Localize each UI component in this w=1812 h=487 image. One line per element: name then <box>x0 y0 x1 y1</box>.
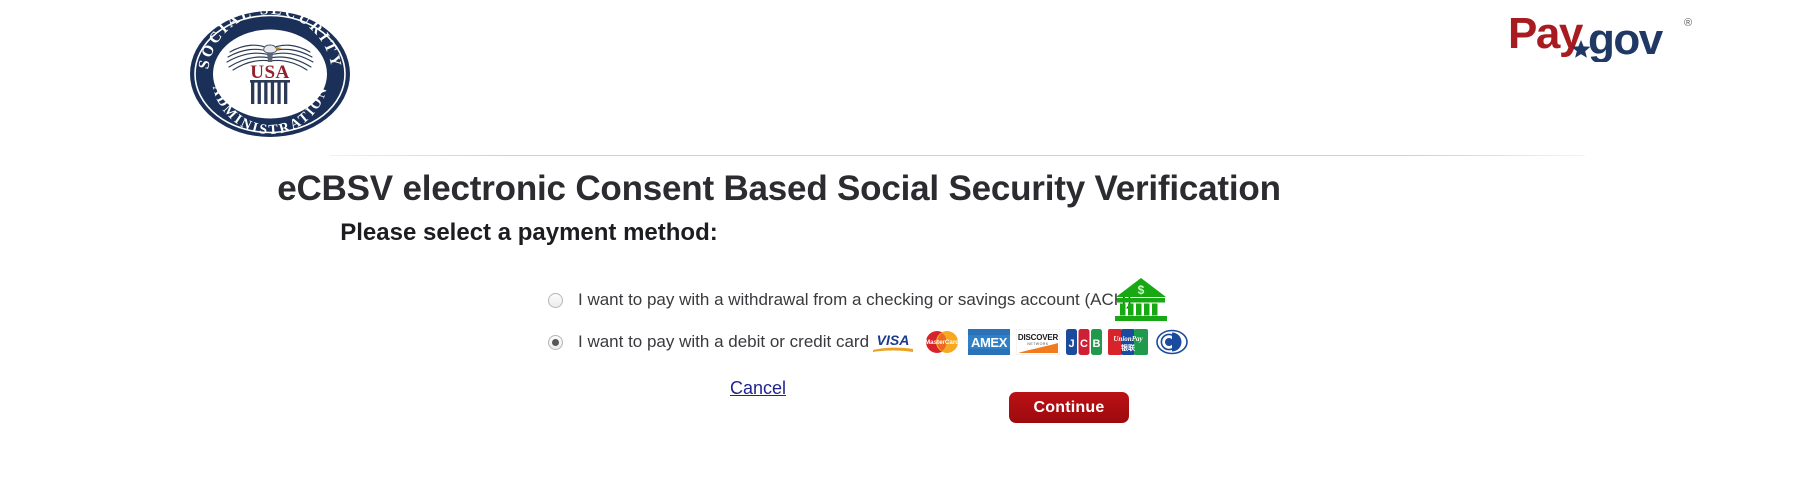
payment-option-card-label: I want to pay with a debit or credit car… <box>578 332 869 352</box>
svg-text:Pay: Pay <box>1508 9 1584 58</box>
svg-text:AMEX: AMEX <box>971 335 1008 350</box>
page-header: SOCIAL SECURITY ADMINISTRATION <box>0 0 1812 150</box>
svg-text:VISA: VISA <box>877 332 910 348</box>
radio-ach[interactable] <box>548 293 563 308</box>
payment-option-card[interactable]: I want to pay with a debit or credit car… <box>548 326 1308 368</box>
amex-icon: AMEX <box>968 329 1010 355</box>
payment-method-prompt: Please select a payment method: <box>0 219 1812 247</box>
discover-icon: DISCOVER NETWORK <box>1016 329 1060 355</box>
jcb-icon: J C B <box>1066 329 1102 355</box>
svg-text:MasterCard: MasterCard <box>925 339 959 346</box>
social-security-administration-seal: SOCIAL SECURITY ADMINISTRATION <box>186 6 354 138</box>
svg-text:C: C <box>1080 338 1088 350</box>
payment-method-options: I want to pay with a withdrawal from a c… <box>548 284 1308 368</box>
svg-text:USA: USA <box>250 62 290 83</box>
payment-option-ach-label: I want to pay with a withdrawal from a c… <box>578 290 1132 310</box>
svg-text:B: B <box>1093 338 1101 350</box>
visa-icon: VISA <box>870 329 916 355</box>
bank-dollar-icon: $ <box>1114 276 1168 324</box>
radio-card[interactable] <box>548 335 563 350</box>
unionpay-icon: UnionPay 银联 <box>1108 329 1148 355</box>
form-actions: Cancel Continue <box>0 370 1812 430</box>
svg-text:$: $ <box>1138 283 1145 297</box>
continue-button[interactable]: Continue <box>1009 392 1129 423</box>
svg-text:UnionPay: UnionPay <box>1113 335 1143 343</box>
svg-text:gov: gov <box>1588 15 1664 62</box>
header-divider <box>330 155 1585 156</box>
page-title: eCBSV electronic Consent Based Social Se… <box>0 169 1812 209</box>
svg-text:J: J <box>1068 338 1074 350</box>
paygov-logo: Pay gov ® <box>1508 6 1698 62</box>
payment-option-ach[interactable]: I want to pay with a withdrawal from a c… <box>548 284 1308 326</box>
svg-text:®: ® <box>1684 17 1692 29</box>
accepted-card-brands: VISA MasterCard AMEX DISC <box>870 328 1190 356</box>
svg-text:银联: 银联 <box>1121 343 1136 352</box>
mastercard-icon: MasterCard <box>922 329 962 355</box>
diners-club-icon <box>1154 329 1190 355</box>
svg-text:NETWORK: NETWORK <box>1027 342 1048 346</box>
svg-text:DISCOVER: DISCOVER <box>1018 333 1059 342</box>
cancel-link[interactable]: Cancel <box>730 378 786 399</box>
